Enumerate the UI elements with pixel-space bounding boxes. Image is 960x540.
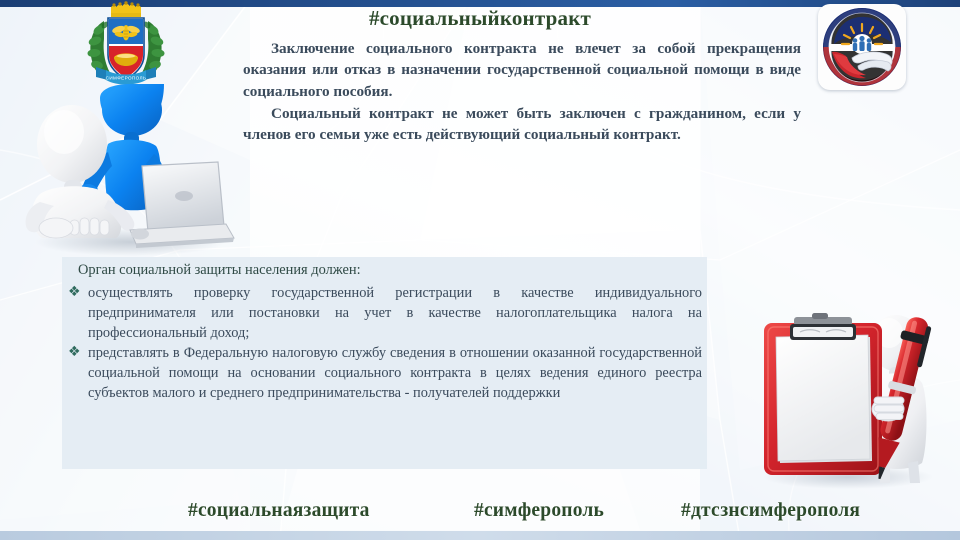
- gripping-hand: [872, 397, 904, 421]
- clipboard-with-pen-figure: [748, 305, 948, 489]
- list-item-label: осуществлять проверку государственной ре…: [88, 284, 702, 343]
- footer-hashtag-1: #социальнаязащита: [188, 500, 370, 522]
- diamond-bullet-icon: ❖: [68, 283, 81, 302]
- duties-panel-lead: Орган социальной защиты населения должен…: [78, 261, 698, 280]
- main-paragraph-2: Социальный контракт не может быть заключ…: [243, 103, 801, 146]
- laptop: [130, 162, 234, 248]
- footer-hashtag-2: #симферополь: [474, 500, 604, 522]
- slide-canvas: СИМФЕРОПОЛЬ: [0, 0, 960, 540]
- two-figures-with-laptop: [12, 84, 238, 256]
- diamond-bullet-icon: ❖: [68, 343, 81, 362]
- clipboard-clip: [790, 313, 856, 340]
- footer-hashtags: #социальнаязащита #симферополь #дтсзнсим…: [0, 500, 960, 528]
- list-item: ❖ осуществлять проверку государственной …: [62, 284, 702, 343]
- clipboard: [764, 313, 882, 475]
- page-title: #социальныйконтракт: [0, 6, 960, 31]
- list-item-label: представлять в Федеральную налоговую слу…: [88, 344, 702, 403]
- main-paragraph-1: Заключение социального контракта не влеч…: [243, 38, 801, 102]
- duties-bullet-list: ❖ осуществлять проверку государственной …: [62, 284, 702, 405]
- list-item: ❖ представлять в Федеральную налоговую с…: [62, 344, 702, 403]
- footer-hashtag-3: #дтсзнсимферополя: [681, 500, 860, 522]
- coa-ribbon-text: СИМФЕРОПОЛЬ: [106, 76, 147, 81]
- main-text-block: Заключение социального контракта не влеч…: [243, 38, 801, 146]
- bottom-accent-band: [0, 531, 960, 540]
